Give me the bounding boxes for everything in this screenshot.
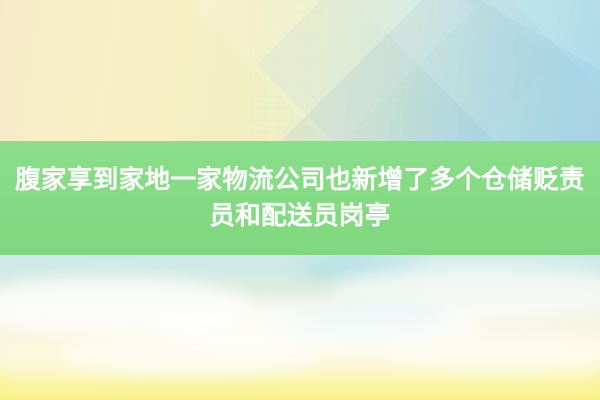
bottom-sky-panel: [0, 255, 600, 400]
diamond-shape-overlay: [191, 0, 475, 141]
cloud-shape: [330, 263, 600, 323]
cloud-shape: [300, 255, 420, 281]
cloud-shape: [380, 329, 600, 371]
caption-line-2: 员和配送员岗亭: [209, 198, 390, 234]
caption-line-1: 腹家享到家地一家物流公司也新增了多个仓储贬责: [15, 162, 585, 198]
article-banner-image: 腹家享到家地一家物流公司也新增了多个仓储贬责 员和配送员岗亭: [0, 0, 600, 400]
wedge-shape-overlay-far: [364, 0, 600, 141]
cloud-shape: [150, 301, 480, 353]
grid-texture-overlay: [250, 0, 600, 141]
diamond-shape-overlay-secondary: [257, 0, 554, 141]
caption-band: 腹家享到家地一家物流公司也新增了多个仓储贬责 员和配送员岗亭: [0, 141, 600, 255]
cloud-shape: [0, 277, 250, 335]
cloud-shape: [280, 307, 450, 337]
cloud-shape: [60, 333, 320, 377]
top-decorative-panel: [0, 0, 600, 141]
wedge-shape-overlay: [254, 0, 600, 141]
cloud-haze: [0, 347, 600, 400]
corner-triangle-overlay: [480, 0, 600, 70]
